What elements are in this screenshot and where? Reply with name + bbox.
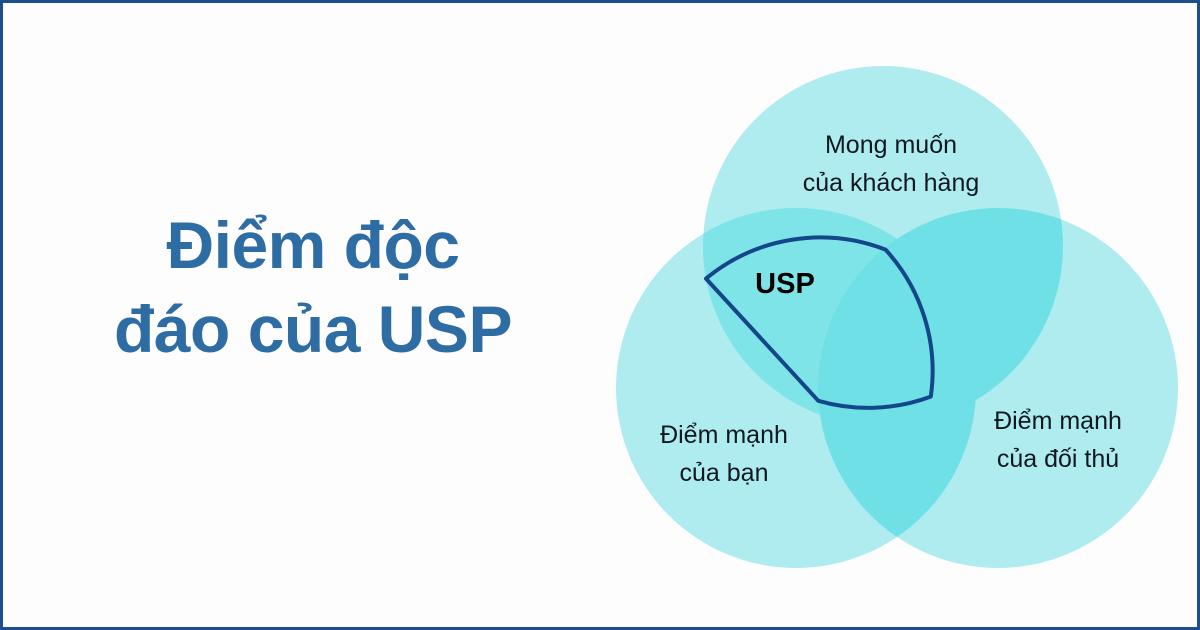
page-title-line-2: đáo của USP: [33, 287, 593, 371]
label-usp: USP: [755, 268, 815, 300]
page-title: Điểm độc đáo của USP: [33, 203, 593, 372]
label-customer-wants-line-1: Mong muốn: [825, 131, 957, 159]
label-your-strengths-line-1: Điểm mạnh: [660, 421, 788, 449]
label-competitor-strengths-line-2: của đối thủ: [997, 445, 1119, 473]
poster-canvas: Điểm độc đáo của USP: [0, 0, 1200, 630]
page-title-line-1: Điểm độc: [33, 203, 593, 287]
venn-diagram: Mong muốn của khách hàng Điểm mạnh của b…: [593, 43, 1193, 603]
label-competitor-strengths-line-1: Điểm mạnh: [994, 407, 1122, 435]
label-customer-wants-line-2: của khách hàng: [803, 169, 980, 197]
label-your-strengths-line-2: của bạn: [680, 459, 769, 487]
